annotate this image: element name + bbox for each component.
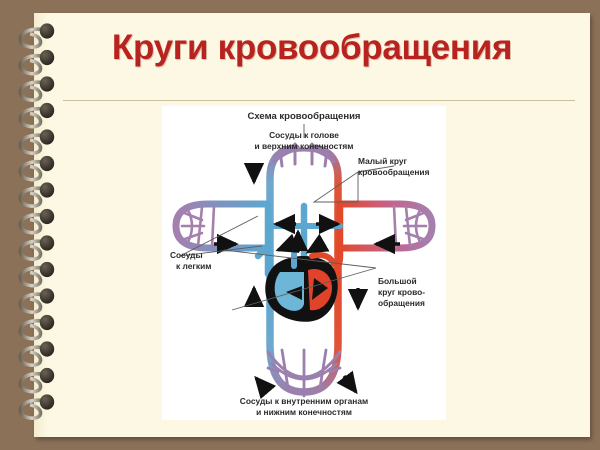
label-head-upper-line1: Сосуды к голове [218, 130, 390, 141]
label-lower-organs-line2: и нижним конечностям [162, 407, 446, 418]
spiral-ring [40, 103, 54, 118]
label-pulmonary-circle: Малый круг кровообращения [358, 156, 450, 178]
arrow-lower-left [256, 378, 268, 392]
spiral-ring [40, 394, 54, 409]
spiral-ring [40, 129, 54, 144]
spiral-ring [40, 288, 54, 303]
label-lower-organs-line1: Сосуды к внутренним органам [162, 396, 446, 407]
label-lung-vessels-line1: Сосуды [170, 250, 240, 261]
diagram-caption-title: Схема кровообращения [162, 111, 446, 122]
arrow-dr-center [308, 244, 322, 252]
spiral-ring [40, 182, 54, 197]
spiral-ring [40, 156, 54, 171]
slide-title: Круги кровообращения [34, 28, 590, 68]
lower-capillary-network [268, 350, 340, 396]
label-head-upper-line2: и верхним конечностям [218, 141, 390, 152]
arrow-lower-right [344, 376, 356, 392]
spiral-ring [40, 235, 54, 250]
slide-canvas: Круги кровообращения [0, 0, 600, 450]
spiral-ring [40, 315, 54, 330]
arrow-dl-center [278, 244, 294, 250]
label-systemic-circle: Большой круг крово- обращения [378, 276, 450, 309]
label-pulmonary-circle-line2: кровообращения [358, 167, 450, 178]
label-systemic-circle-line2: круг крово- [378, 287, 450, 298]
label-head-upper: Сосуды к голове и верхним конечностям [218, 130, 390, 152]
heart-icon [265, 256, 337, 322]
spiral-ring [40, 368, 54, 383]
spiral-ring [40, 262, 54, 277]
label-systemic-circle-line3: обращения [378, 298, 450, 309]
spiral-ring [40, 341, 54, 356]
label-lower-organs: Сосуды к внутренним органам и нижним кон… [162, 396, 446, 418]
label-systemic-circle-line1: Большой [378, 276, 450, 287]
label-lung-vessels: Сосуды к легким [170, 250, 240, 272]
circulation-diagram: Схема кровообращения Сосуды к голове и в… [162, 106, 446, 420]
label-lung-vessels-line2: к легким [170, 261, 240, 272]
title-divider-rule [63, 100, 575, 101]
label-pulmonary-circle-line1: Малый круг [358, 156, 450, 167]
spiral-ring [40, 76, 54, 91]
spiral-ring [40, 209, 54, 224]
